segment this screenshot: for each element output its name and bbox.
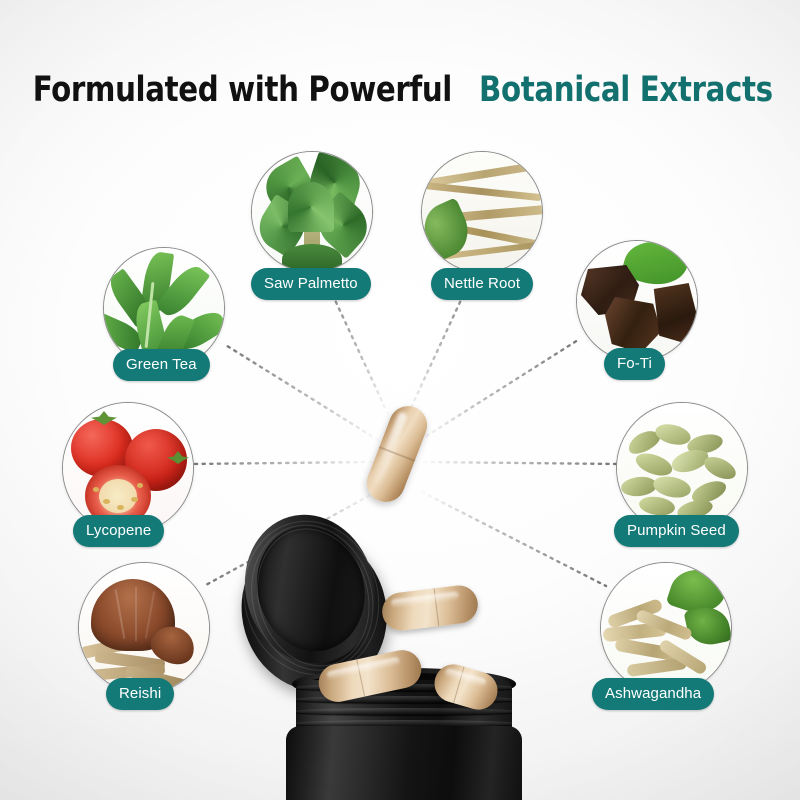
bottle-body — [286, 726, 522, 800]
product-bottle-group — [0, 0, 800, 800]
infographic-canvas: Formulated with Powerful Botanical Extra… — [0, 0, 800, 800]
loose-capsule — [380, 583, 480, 632]
